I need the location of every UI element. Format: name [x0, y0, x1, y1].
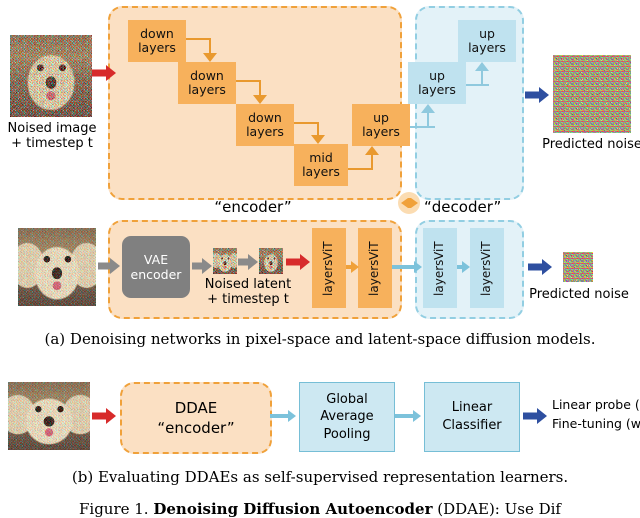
decoder-quote-label: “decoder” [424, 198, 534, 216]
vit-blue-connector-arrow [457, 261, 470, 273]
decoder-to-noise-arrow [525, 86, 549, 104]
photo-texture-overlay-b [8, 382, 90, 450]
vit-layers-block-blue-2: layers ViT [470, 228, 504, 308]
vae-to-latent-arrow [192, 258, 212, 274]
clean-dog-photo-latent [18, 228, 96, 306]
noised-image-label-line1: Noised image [0, 122, 104, 137]
down-layers-2-line1: down [190, 69, 224, 83]
vit-label-blue-1: layers ViT [432, 241, 448, 296]
up-layers-orange-line1: up [373, 111, 389, 125]
up-layers-block-orange: up layers [352, 104, 410, 146]
ddae-line2: “encoder” [157, 418, 234, 438]
gap-line3: Pooling [324, 426, 371, 444]
vae-encoder-line2: encoder [131, 267, 182, 282]
up-layers-blue-1-line2: layers [418, 83, 456, 97]
vit-label-orange-2: layers ViT [367, 241, 383, 296]
up-layers-block-blue-1: up layers [408, 62, 466, 104]
connector-down3-mid-v [317, 122, 319, 136]
output-linear-probe: Linear probe (w/ noise) [552, 396, 640, 415]
noised-latent-label: Noised latent + timestep t [198, 278, 298, 308]
gap-line2: Average [320, 408, 373, 426]
ddae-line1: DDAE [175, 398, 218, 418]
linear-classifier-block: Linear Classifier [424, 382, 520, 452]
caption-a: (a) Denoising networks in pixel-space an… [0, 330, 640, 348]
classifier-line2: Classifier [442, 417, 501, 435]
latent-thumb-clean-grain [213, 248, 237, 274]
connector-up-upblue1-head [421, 104, 435, 113]
connector-down1-down2-h [186, 38, 211, 40]
clean-dog-photo-b [8, 382, 90, 450]
panel-b-outputs: Linear probe (w/ noise) Fine-tuning (w/o… [552, 396, 640, 434]
down-layers-1-line1: down [140, 27, 174, 41]
noised-image-label-line2: + timestep t [0, 137, 104, 152]
encoder-decoder-swap-icon [398, 192, 420, 214]
swap-left-arrow [401, 198, 408, 208]
connector-upblue1-upblue2-head [475, 62, 489, 71]
noised-latent-label-line1: Noised latent [198, 278, 298, 293]
mid-layers-block: mid layers [294, 144, 348, 186]
vit-label-blue-2: layers ViT [479, 241, 495, 296]
figure-title: Denoising Diffusion Autoencoder [153, 500, 432, 518]
figure-title-line: Figure 1. Denoising Diffusion Autoencode… [0, 500, 640, 518]
caption-b: (b) Evaluating DDAEs as self-supervised … [0, 468, 640, 486]
up-layers-blue-2-line1: up [479, 27, 495, 41]
vit-blue-2-line2: ViT [479, 241, 495, 260]
connector-upblue1-upblue2-v [481, 71, 483, 86]
vit-blue-2-line1: layers [479, 259, 495, 295]
classifier-to-output-arrow [523, 407, 547, 425]
vit-blue-1-line1: layers [432, 259, 448, 295]
vit-orange-2-line2: ViT [367, 241, 383, 260]
up-layers-blue-2-line2: layers [468, 41, 506, 55]
photo-texture-overlay [18, 228, 96, 306]
vit-label-orange-1: layers ViT [321, 241, 337, 296]
vit-blue-1-line2: ViT [432, 241, 448, 260]
down-layers-3-line1: down [248, 111, 282, 125]
encoder-to-decoder-latent-arrow [392, 261, 422, 273]
global-average-pooling-block: Global Average Pooling [299, 382, 395, 452]
mid-layers-line1: mid [309, 151, 333, 165]
predicted-noise-latent-label: Predicted noise [518, 288, 640, 303]
connector-mid-up-h [348, 168, 373, 170]
connector-up-upblue1-v [427, 113, 429, 128]
connector-down3-mid-head [311, 135, 325, 144]
predicted-noise-latent [563, 252, 593, 282]
classifier-line1: Linear [452, 399, 492, 417]
connector-down2-down3-h [236, 80, 261, 82]
down-layers-block-1: down layers [128, 20, 186, 62]
photo-to-vae-arrow [98, 258, 120, 274]
latent-thumb-noised [259, 248, 283, 274]
figure-number: Figure 1. [79, 500, 149, 518]
down-layers-block-3: down layers [236, 104, 294, 146]
output-fine-tuning: Fine-tuning (w/o noise) [552, 415, 640, 434]
vit-orange-connector-arrow [346, 261, 359, 273]
predicted-noise-image [553, 55, 631, 133]
noised-image-label: Noised image + timestep t [0, 122, 104, 152]
vit-orange-2-line1: layers [367, 259, 383, 295]
noised-dog-photo [10, 35, 92, 117]
down-layers-2-line2: layers [188, 83, 226, 97]
connector-mid-up-head [365, 146, 379, 155]
vit-orange-1-line2: ViT [321, 241, 337, 260]
gap-line1: Global [326, 391, 367, 409]
latent-to-vit-arrow [286, 253, 310, 271]
down-layers-1-line2: layers [138, 41, 176, 55]
vit-layers-block-blue-1: layers ViT [423, 228, 457, 308]
latent-thumb-noised-grain [259, 248, 283, 274]
connector-down1-down2-head [203, 53, 217, 62]
vit-layers-block-orange-2: layers ViT [358, 228, 392, 308]
mid-layers-line2: layers [302, 165, 340, 179]
connector-up-upblue1-h [410, 126, 435, 128]
input-to-encoder-arrow [92, 64, 116, 82]
vae-encoder-line1: VAE [144, 252, 168, 267]
vit-orange-1-line1: layers [321, 259, 337, 295]
gap-to-classifier-arrow [395, 410, 421, 422]
connector-down1-down2-v [209, 38, 211, 54]
down-layers-block-2: down layers [178, 62, 236, 104]
latent-thumb-clean [213, 248, 237, 274]
swap-right-arrow [411, 198, 418, 208]
up-layers-block-blue-2: up layers [458, 20, 516, 62]
connector-mid-up-v [371, 155, 373, 170]
encoder-quote-label: “encoder” [108, 198, 398, 216]
connector-down3-mid-h [294, 122, 319, 124]
up-layers-orange-line2: layers [362, 125, 400, 139]
connector-down2-down3-head [253, 95, 267, 104]
latent-noise-arrow [238, 254, 258, 269]
vae-encoder-block: VAE encoder [122, 236, 190, 298]
ddae-encoder-block: DDAE “encoder” [120, 382, 272, 454]
noised-latent-label-line2: + timestep t [198, 293, 298, 308]
up-layers-blue-1-line1: up [429, 69, 445, 83]
down-layers-3-line2: layers [246, 125, 284, 139]
latent-to-noise-arrow [528, 258, 552, 276]
predicted-noise-label: Predicted noise [532, 138, 640, 153]
photo-to-ddae-arrow [92, 407, 116, 425]
connector-upblue1-upblue2-h [466, 84, 489, 86]
connector-down2-down3-v [259, 80, 261, 96]
vit-layers-block-orange-1: layers ViT [312, 228, 346, 308]
ddae-to-gap-arrow [270, 410, 296, 422]
figure-rest: (DDAE): Use Dif [433, 500, 562, 518]
noise-grain-overlay [10, 35, 92, 117]
